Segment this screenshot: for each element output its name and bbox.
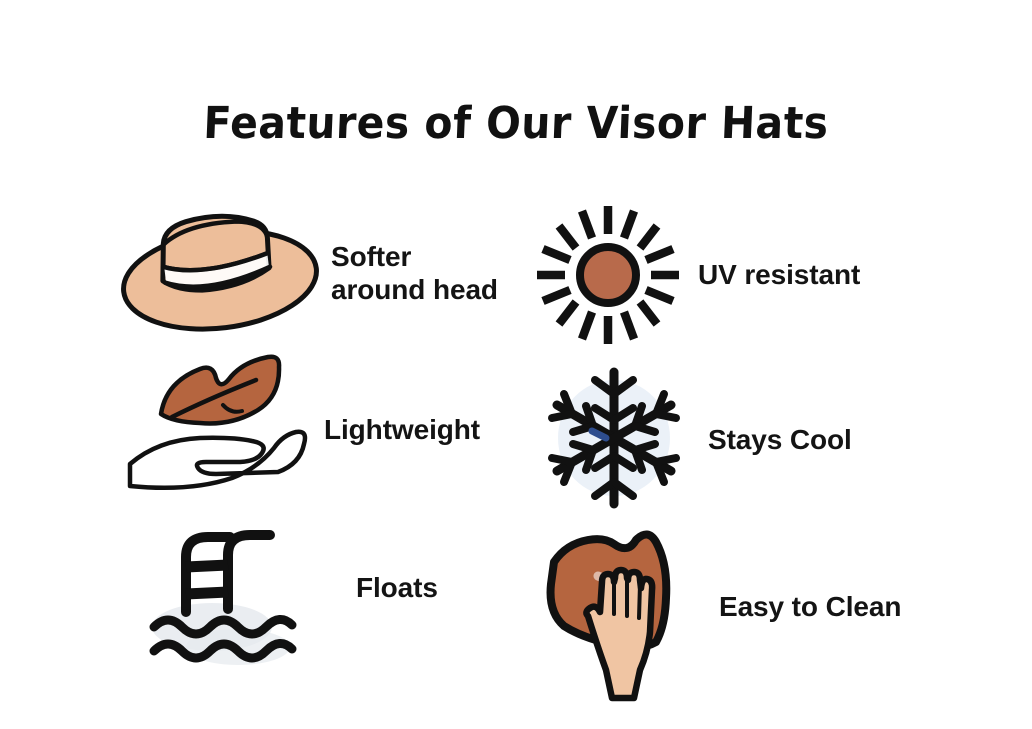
feature-label-cool: Stays Cool <box>708 423 852 456</box>
page-title: Features of Our Visor Hats <box>35 98 997 149</box>
pool-ladder-water-icon <box>150 527 330 667</box>
feature-uv-resistant: UV resistant <box>528 200 860 350</box>
leaf-on-hand-icon <box>128 352 318 487</box>
feature-label-lightweight: Lightweight <box>324 413 480 446</box>
feature-softer-around-head: Softer around head <box>118 212 498 332</box>
snowflake-icon <box>540 368 690 508</box>
feature-label-softer: Softer around head <box>331 240 498 306</box>
infographic-canvas: Features of Our Visor Hats Softer aroun <box>0 0 1032 729</box>
feature-easy-to-clean: Easy to Clean <box>536 520 901 705</box>
feature-floats: Floats <box>150 527 438 667</box>
feature-label-uv: UV resistant <box>698 258 860 291</box>
hand-wiping-cloth-icon <box>536 520 701 705</box>
feature-label-clean: Easy to Clean <box>719 590 901 623</box>
sun-hat-icon <box>118 212 323 332</box>
feature-lightweight: Lightweight <box>128 352 480 487</box>
feature-stays-cool: Stays Cool <box>540 368 852 508</box>
feature-label-floats: Floats <box>356 571 438 604</box>
sun-icon <box>528 200 688 350</box>
